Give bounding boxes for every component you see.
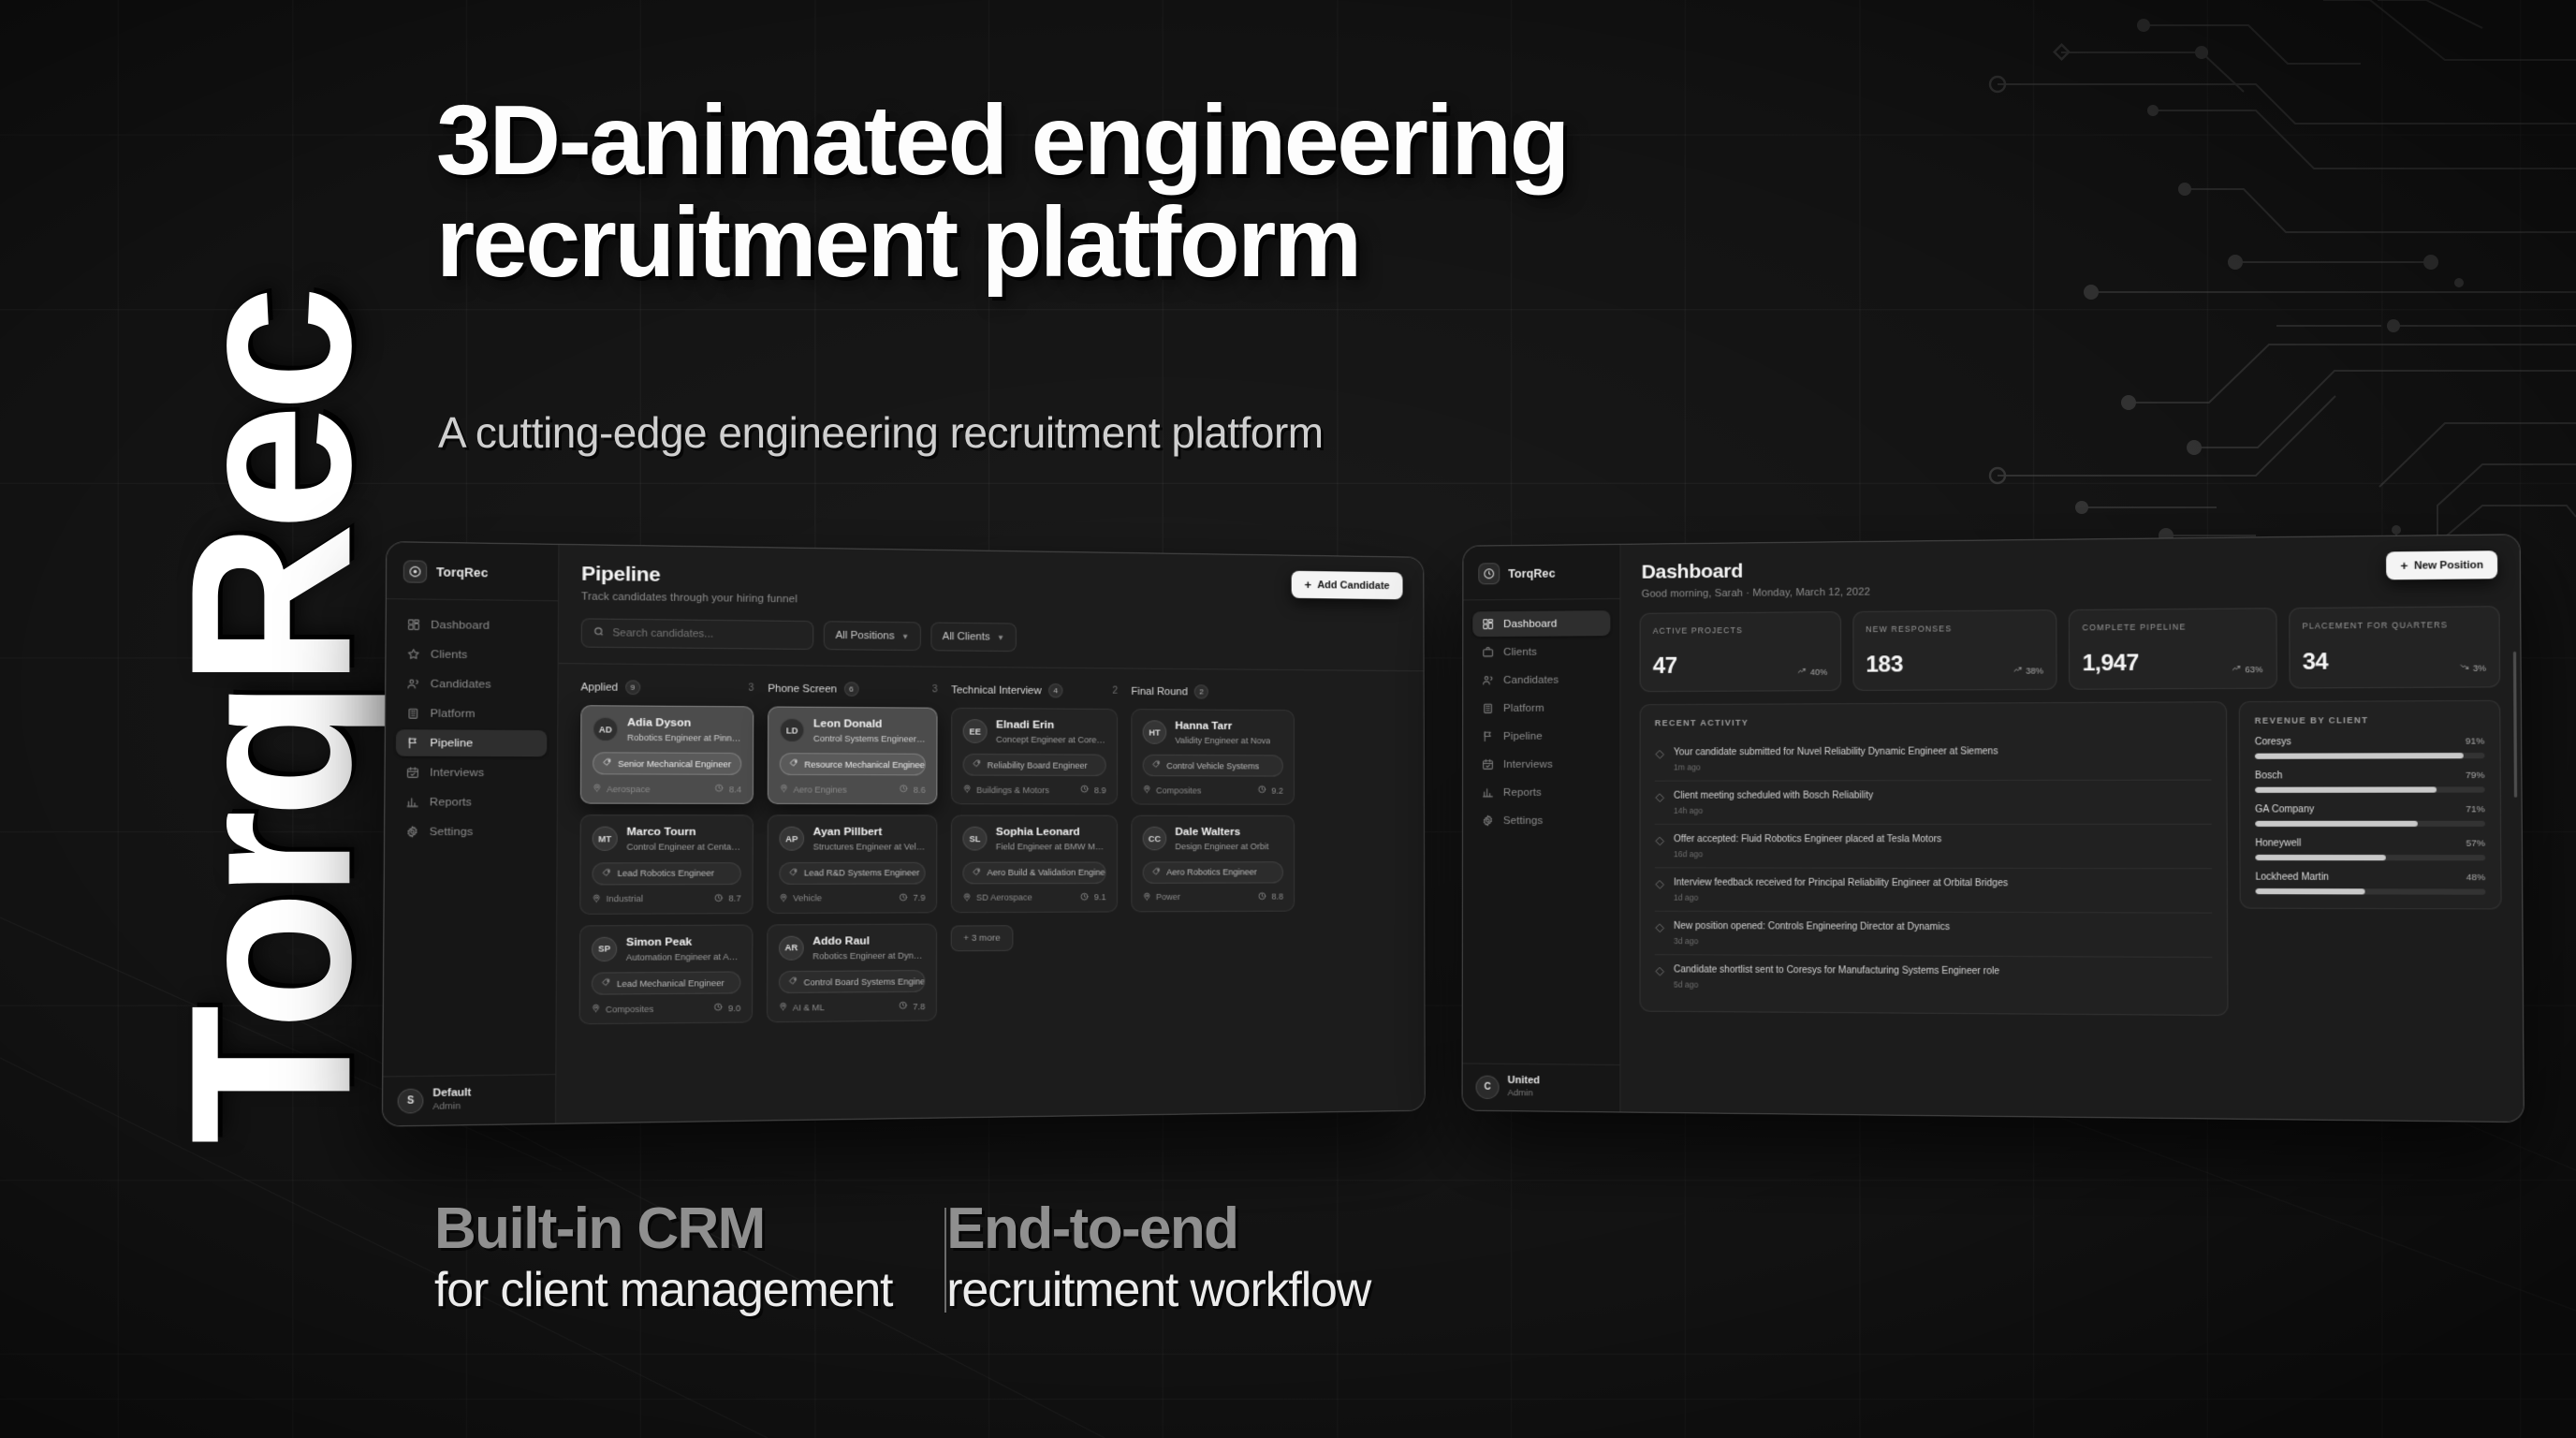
tag-icon [789,977,798,988]
candidate-role: Field Engineer at BMW Motors [996,842,1106,853]
pipeline-column-header: Final Round2 [1131,684,1294,699]
revenue-client-name: Coresys [2255,737,2291,747]
candidate-tag: Senior Mechanical Engineer [593,753,741,775]
candidate-meta-left: Composites [1143,785,1202,796]
candidate-meta-left: Aero Engines [780,785,847,796]
filter-clients-label: All Clients [943,631,990,643]
pipeline-column: Final Round2HTHanna TarrValidity Enginee… [1131,684,1295,1020]
activity-text: Client meeting scheduled with Bosch Reli… [1674,789,1873,801]
sidebar-item-platform[interactable]: Platform [1472,695,1610,721]
candidate-header: APAyan PillbertStructures Engineer at Ve… [779,827,925,853]
candidate-score: 9.0 [728,1004,740,1014]
diamond-icon [1655,921,1665,932]
add-candidate-label: Add Candidate [1317,580,1389,592]
pipeline-card-list: EEElnadi ErinConcept Engineer at Coresys… [951,708,1118,951]
clock-icon [1080,892,1089,902]
avatar: MT [593,827,618,851]
pipeline-board: Applied93ADAdia DysonRobotics Engineer a… [579,680,1425,1025]
candidate-tag: Control Board Systems Engineer [779,970,926,993]
pipeline-column-header: Technical Interview42 [951,682,1118,698]
diamond-icon [1655,747,1665,757]
feature-title: End-to-end [946,1198,1370,1261]
diamond-icon [1655,834,1665,844]
candidate-location: AI & ML [793,1003,825,1013]
candidate-meta: Composites9.0 [592,1003,741,1015]
sidebar-item-candidates[interactable]: Candidates [396,670,547,698]
dashboard-panels: Recent Activity Your candidate submitted… [1640,700,2503,1018]
candidate-tag: Aero Robotics Engineer [1143,861,1283,884]
sidebar-item-reports[interactable]: Reports [395,788,547,815]
pipeline-board-scroll[interactable]: Applied93ADAdia DysonRobotics Engineer a… [556,663,1425,1123]
candidate-card[interactable]: APAyan PillbertStructures Engineer at Ve… [767,815,937,914]
candidate-card[interactable]: SLSophia LeonardField Engineer at BMW Mo… [951,815,1118,913]
candidate-meta: SD Aerospace9.1 [962,892,1105,903]
sidebar-item-label: Interviews [430,767,484,779]
sidebar-user-role: Admin [432,1101,471,1113]
activity-text: Interview feedback received for Principa… [1674,876,2008,889]
diamond-icon [1655,964,1665,975]
revenue-row: Honeywell57% [2255,838,2485,860]
sidebar-brand[interactable]: TorqRec [1463,558,1619,600]
users-icon [1482,674,1494,686]
pipeline-column-name: Phone Screen [768,682,837,695]
sidebar-item-pipeline[interactable]: Pipeline [396,729,548,756]
brand-wordmark-vertical: TorqRec [162,294,379,1145]
candidate-meta-right: 8.8 [1258,891,1283,902]
clock-icon [1258,892,1266,902]
candidate-meta-left: Vehicle [779,893,822,904]
pin-icon [779,893,788,903]
filter-clients-dropdown[interactable]: All Clients ▼ [930,623,1016,653]
candidate-tag-label: Control Vehicle Systems [1166,761,1259,770]
briefcase-icon [1482,646,1494,658]
candidate-location: Buildings & Motors [976,785,1049,795]
candidate-card[interactable]: SPSimon PeakAutomation Engineer at Arc L… [579,924,754,1024]
star-icon [407,648,420,661]
candidate-role: Concept Engineer at Coresys [996,734,1106,745]
revenue-row: Coresys91% [2255,736,2485,759]
add-candidate-button[interactable]: + Add Candidate [1291,571,1402,600]
stat-delta-value: 3% [2473,663,2486,672]
filter-positions-dropdown[interactable]: All Positions ▼ [824,621,921,651]
activity-time: 16d ago [1674,849,1941,858]
sidebar-item-label: Settings [430,826,474,838]
feature-subtitle: recruitment workflow [946,1263,1370,1317]
sidebar-item-reports[interactable]: Reports [1472,780,1610,805]
pin-icon [780,785,789,795]
candidate-card[interactable]: ARAddo RaulRobotics Engineer at Dynamics… [767,924,937,1023]
revenue-row-header: Coresys91% [2255,736,2485,747]
revenue-progress-fill [2255,855,2386,860]
sidebar-user-name: United [1508,1075,1540,1088]
tag-icon [602,978,611,990]
sidebar-item-clients[interactable]: Clients [396,640,547,668]
revenue-row-header: Honeywell57% [2255,838,2485,849]
pipeline-toolbar: Search candidates... All Positions ▼ All… [559,602,1424,670]
revenue-panel-title: Revenue By Client [2255,715,2484,726]
diamond-icon [1655,877,1665,888]
stat-label: Complete Pipeline [2082,622,2262,633]
pipeline-card-list: LDLeon DonaldControl Systems Engineer at… [767,706,938,1022]
sidebar-item-pipeline[interactable]: Pipeline [1472,723,1610,749]
candidate-header: CCDale WaltersDesign Engineer at Orbit [1143,827,1283,853]
stat-delta: 63% [2232,664,2263,675]
flag-icon [406,737,419,750]
flag-icon [1482,730,1494,742]
sidebar-item-dashboard[interactable]: Dashboard [1472,610,1610,637]
recent-activity-panel: Recent Activity Your candidate submitted… [1640,701,2229,1016]
stat-value: 1,947 [2083,652,2139,675]
activity-text: Offer accepted: Fluid Robotics Engineer … [1674,833,1941,845]
stat-bottom: 343% [2303,650,2486,674]
layout-dashboard-icon [407,618,420,631]
activity-time: 1d ago [1674,893,2008,903]
candidate-score: 7.8 [913,1002,925,1011]
candidate-tag: Aero Build & Validation Engineer [962,861,1105,884]
candidate-meta-left: Industrial [592,894,643,905]
revenue-row: GA Company71% [2255,804,2485,827]
sidebar-item-candidates[interactable]: Candidates [1472,667,1610,693]
sidebar-user-block[interactable]: S Default Admin [383,1075,555,1126]
pipeline-main: Pipeline Track candidates through your h… [556,545,1425,1123]
pipeline-card-list: ADAdia DysonRobotics Engineer at Pinnacl… [579,705,754,1025]
pipeline-sidebar: TorqRec DashboardClientsCandidatesPlatfo… [383,542,559,1125]
stat-delta-value: 63% [2245,664,2262,673]
sidebar-item-label: Pipeline [1503,730,1543,741]
candidate-header: ADAdia DysonRobotics Engineer at Pinnacl… [593,717,741,744]
candidate-meta: Aero Engines8.6 [780,785,926,796]
candidate-name: Addo Raul [812,935,925,949]
sidebar-item-platform[interactable]: Platform [396,700,548,727]
trend-down-icon [2460,663,2469,673]
clock-icon [714,893,724,903]
activity-time: 3d ago [1674,936,1950,946]
activity-item[interactable]: Candidate shortlist sent to Coresys for … [1655,955,2213,1001]
tag-icon [789,868,798,878]
dashboard-body: Active Projects4740%New Responses18338%C… [1620,593,2523,1123]
clock-icon [714,1003,724,1014]
revenue-row-header: GA Company71% [2255,804,2485,815]
feature-title: Built-in CRM [434,1198,892,1261]
sidebar-item-dashboard[interactable]: Dashboard [397,611,548,639]
target-icon [403,560,428,582]
feature-item: End-to-end recruitment workflow [946,1198,1425,1317]
tag-icon [1152,760,1161,770]
candidate-tag-label: Control Board Systems Engineer [804,976,926,987]
candidate-tag-label: Senior Mechanical Engineer [618,759,731,770]
candidate-meta: AI & ML7.8 [779,1001,926,1013]
candidate-meta-left: Buildings & Motors [963,785,1049,795]
revenue-progress-fill [2255,821,2418,827]
candidate-score: 9.1 [1094,893,1106,902]
tag-icon [1152,867,1161,877]
stat-cards-row: Active Projects4740%New Responses18338%C… [1640,606,2501,692]
candidate-header: SPSimon PeakAutomation Engineer at Arc L… [592,936,741,964]
candidate-meta-right: 9.1 [1080,892,1105,902]
dashboard-main: Dashboard Good morning, Sarah · Monday, … [1620,535,2523,1122]
revenue-progress-fill [2255,786,2437,792]
candidate-tag-label: Lead Mechanical Engineer [617,978,724,989]
tag-icon [603,758,612,770]
pin-icon [779,1003,788,1014]
avatar: EE [963,719,988,743]
revenue-progress-fill [2256,888,2365,894]
activity-item[interactable]: Interview feedback received for Principa… [1655,868,2212,913]
headline-line-2: recruitment platform [436,187,1360,298]
sidebar-item-label: Interviews [1503,758,1553,770]
clock-icon [1080,785,1089,796]
stat-bottom: 1,94763% [2083,652,2263,676]
trend-up-icon [2013,666,2022,676]
candidate-tag-label: Resource Mechanical Engineer [804,759,926,770]
new-position-button[interactable]: + New Position [2386,550,2497,580]
pipeline-column-count: 6 [844,682,859,697]
sidebar-item-label: Platform [431,708,476,720]
sidebar-divider [1463,598,1619,600]
building-icon [1482,702,1494,714]
candidate-meta-right: 8.6 [900,785,926,795]
avatar: C [1476,1075,1500,1098]
candidate-role: Design Engineer at Orbit [1175,842,1268,853]
pipeline-column-name: Applied [580,682,618,694]
activity-item[interactable]: Client meeting scheduled with Bosch Reli… [1655,781,2212,825]
sidebar-item-interviews[interactable]: Interviews [396,759,548,786]
stat-value: 183 [1866,653,1903,677]
candidate-tag-label: Reliability Board Engineer [988,760,1088,770]
tag-icon [789,759,798,770]
candidate-meta-right: 9.0 [714,1003,740,1014]
search-icon [593,624,605,642]
candidate-name: Sophia Leonard [996,827,1106,840]
candidate-tag: Lead R&D Systems Engineer [779,862,925,885]
revenue-progress-track [2256,888,2486,895]
stat-delta: 40% [1798,667,1828,677]
clock-icon [900,893,908,903]
candidate-role: Structures Engineer at Velocitrex [813,843,926,854]
sidebar-item-label: Clients [1503,646,1537,657]
sidebar-item-clients[interactable]: Clients [1472,638,1610,665]
candidate-location: Aero Engines [794,785,847,794]
candidate-score: 8.7 [728,894,740,903]
stat-delta-value: 40% [1810,667,1827,676]
pin-icon [593,784,602,795]
candidate-role: Robotics Engineer at Dynamics [812,950,925,962]
activity-text: New position opened: Controls Engineerin… [1674,920,1950,933]
pipeline-column-name: Technical Interview [951,684,1042,697]
pipeline-column-more: 2 [1112,686,1118,697]
stat-label: Placement For Quarters [2303,620,2486,631]
sidebar-item-label: Platform [1503,702,1544,713]
candidate-meta-left: Aerospace [593,784,651,795]
activity-item[interactable]: Your candidate submitted for Nuvel Relia… [1655,736,2212,781]
candidate-card[interactable]: ADAdia DysonRobotics Engineer at Pinnacl… [580,705,754,804]
candidate-score: 8.4 [729,785,741,794]
candidate-header: ARAddo RaulRobotics Engineer at Dynamics [779,935,925,962]
pipeline-column: Applied93ADAdia DysonRobotics Engineer a… [579,680,754,1025]
stat-delta: 3% [2460,662,2486,673]
candidate-card[interactable]: EEElnadi ErinConcept Engineer at Coresys… [951,708,1118,805]
sidebar-user-role: Admin [1508,1088,1540,1099]
stat-card: New Responses18338% [1852,609,2057,691]
candidate-location: SD Aerospace [976,893,1032,902]
calendar-check-icon [1482,758,1494,770]
revenue-percent: 57% [2466,838,2485,848]
avatar: CC [1143,827,1167,850]
candidate-score: 8.8 [1271,892,1283,902]
stat-bottom: 18338% [1866,653,2043,677]
revenue-progress-track [2255,753,2485,759]
stat-label: Active Projects [1653,624,1828,635]
pin-icon [592,894,601,905]
candidate-name: Ayan Pillbert [813,827,926,840]
candidate-header: LDLeon DonaldControl Systems Engineer at… [780,718,926,745]
revenue-percent: 71% [2466,804,2485,814]
sidebar-brand[interactable]: TorqRec [387,556,558,600]
activity-time: 1m ago [1674,762,1998,772]
pipeline-column-count: 4 [1048,683,1062,697]
candidate-meta-right: 9.2 [1258,785,1283,796]
sidebar-item-label: Settings [1503,814,1543,826]
candidate-card[interactable]: HTHanna TarrValidity Engineer at NovaCon… [1131,709,1295,805]
candidate-header: EEElnadi ErinConcept Engineer at Coresys [963,719,1106,746]
sidebar-item-label: Candidates [1503,674,1559,685]
candidate-location: Composites [1156,785,1201,795]
pin-icon [962,893,971,903]
revenue-list: Coresys91%Bosch79%GA Company71%Honeywell… [2255,736,2486,894]
candidate-card[interactable]: MTMarco TournControl Engineer at Centaur… [579,815,754,915]
calendar-check-icon [406,766,419,779]
target-icon [1478,563,1500,584]
revenue-row-header: Bosch79% [2255,770,2485,782]
stat-delta-value: 38% [2026,666,2043,675]
tag-icon [973,868,981,878]
sidebar-item-label: Reports [1503,786,1542,798]
avatar: LD [780,718,805,742]
candidate-tag-label: Aero Robotics Engineer [1166,868,1257,877]
headline-line-1: 3D-animated engineering [436,85,1568,196]
pipeline-nav: DashboardClientsCandidatesPlatformPipeli… [383,611,558,1077]
filter-positions-label: All Positions [836,630,895,642]
pipeline-column-more: 3 [932,684,938,695]
plus-icon: + [1305,579,1312,591]
candidate-card[interactable]: LDLeon DonaldControl Systems Engineer at… [768,706,938,804]
clock-icon [900,785,908,795]
page-subtitle: A cutting-edge engineering recruitment p… [438,407,1842,458]
activity-item[interactable]: New position opened: Controls Engineerin… [1655,912,2213,958]
revenue-by-client-panel: Revenue By Client Coresys91%Bosch79%GA C… [2239,700,2502,910]
pipeline-header: Pipeline Track candidates through your h… [559,545,1423,613]
pipeline-column-count: 9 [625,680,640,695]
search-input[interactable]: Search candidates... [581,618,814,650]
sidebar-item-settings[interactable]: Settings [1472,808,1610,833]
revenue-client-name: Bosch [2255,770,2283,781]
page-title: 3D-animated engineering recruitment plat… [436,90,2027,294]
candidate-name: Elnadi Erin [996,719,1106,733]
candidate-role: Control Systems Engineer at ATLA Corp [813,733,926,745]
stat-card: Complete Pipeline1,94763% [2069,608,2277,690]
plus-icon: + [2400,559,2408,572]
candidate-meta-left: AI & ML [779,1002,825,1013]
pin-icon [1143,785,1151,796]
stat-value: 47 [1653,655,1677,678]
candidate-meta-right: 7.8 [899,1001,925,1012]
candidate-meta-right: 8.7 [714,893,740,904]
pipeline-column-header: Phone Screen63 [768,682,937,697]
revenue-progress-track [2255,821,2485,827]
pin-icon [592,1005,601,1016]
pipeline-column-more: 3 [748,683,754,694]
pipeline-column: Phone Screen63LDLeon DonaldControl Syste… [767,682,938,1023]
sidebar-item-interviews[interactable]: Interviews [1472,752,1610,777]
activity-text: Your candidate submitted for Nuvel Relia… [1674,745,1998,758]
app-window-pipeline: TorqRec DashboardClientsCandidatesPlatfo… [382,541,1426,1127]
revenue-row: Bosch79% [2255,770,2485,793]
clock-icon [1258,785,1266,796]
stat-value: 34 [2303,651,2328,674]
show-more-pill[interactable]: + 3 more [951,925,1013,951]
sidebar-item-label: Candidates [431,678,491,690]
candidate-meta-left: SD Aerospace [962,892,1032,903]
candidate-location: Composites [606,1005,653,1015]
candidate-header: HTHanna TarrValidity Engineer at Nova [1143,720,1283,747]
pipeline-column: Technical Interview42EEElnadi ErinConcep… [951,682,1118,1021]
trend-up-icon [1798,667,1807,677]
sidebar-item-label: Pipeline [430,737,473,749]
pin-icon [1143,892,1151,902]
activity-item[interactable]: Offer accepted: Fluid Robotics Engineer … [1655,825,2212,869]
sidebar-brand-label: TorqRec [1508,566,1555,580]
revenue-progress-track [2255,855,2485,860]
sidebar-item-label: Dashboard [431,619,490,631]
layout-dashboard-icon [1482,618,1494,630]
candidate-name: Simon Peak [626,936,741,950]
diamond-icon [1655,791,1665,801]
candidate-meta: Buildings & Motors8.9 [963,785,1106,796]
candidate-tag-label: Lead Robotics Engineer [618,869,715,879]
dashboard-header: Dashboard Good morning, Sarah · Monday, … [1620,535,2520,600]
candidate-score: 9.2 [1271,786,1283,796]
clock-icon [899,1002,907,1012]
bar-chart-icon [1482,786,1494,799]
chevron-down-icon: ▼ [901,632,909,640]
revenue-percent: 91% [2466,736,2485,746]
candidate-meta-right: 7.9 [900,893,926,903]
avatar: AP [779,827,804,851]
sidebar-item-label: Clients [431,649,468,661]
candidate-role: Robotics Engineer at Pinnacle [627,732,741,744]
stat-bottom: 4740% [1653,654,1828,678]
candidate-tag: Lead Mechanical Engineer [592,972,741,995]
app-window-dashboard: TorqRec DashboardClientsCandidatesPlatfo… [1462,534,2525,1123]
candidate-location: Vehicle [793,894,822,903]
pipeline-column-count: 2 [1194,684,1208,698]
stat-card: Active Projects4740% [1640,611,1841,692]
candidate-meta-right: 8.9 [1080,785,1105,796]
avatar: AD [593,717,618,741]
revenue-percent: 79% [2466,770,2485,781]
gear-icon [1482,814,1494,827]
avatar: AR [779,936,804,961]
candidate-meta: Aerospace8.4 [593,784,741,795]
sidebar-user-block[interactable]: C United Admin [1463,1064,1620,1112]
candidate-card[interactable]: CCDale WaltersDesign Engineer at OrbitAe… [1131,815,1295,912]
pin-icon [963,785,972,795]
sidebar-item-settings[interactable]: Settings [395,818,547,845]
sidebar-brand-label: TorqRec [436,565,488,580]
feature-highlights: Built-in CRM for client management End-t… [434,1198,1425,1317]
bar-chart-icon [405,796,418,809]
candidate-meta: Industrial8.7 [592,893,740,904]
